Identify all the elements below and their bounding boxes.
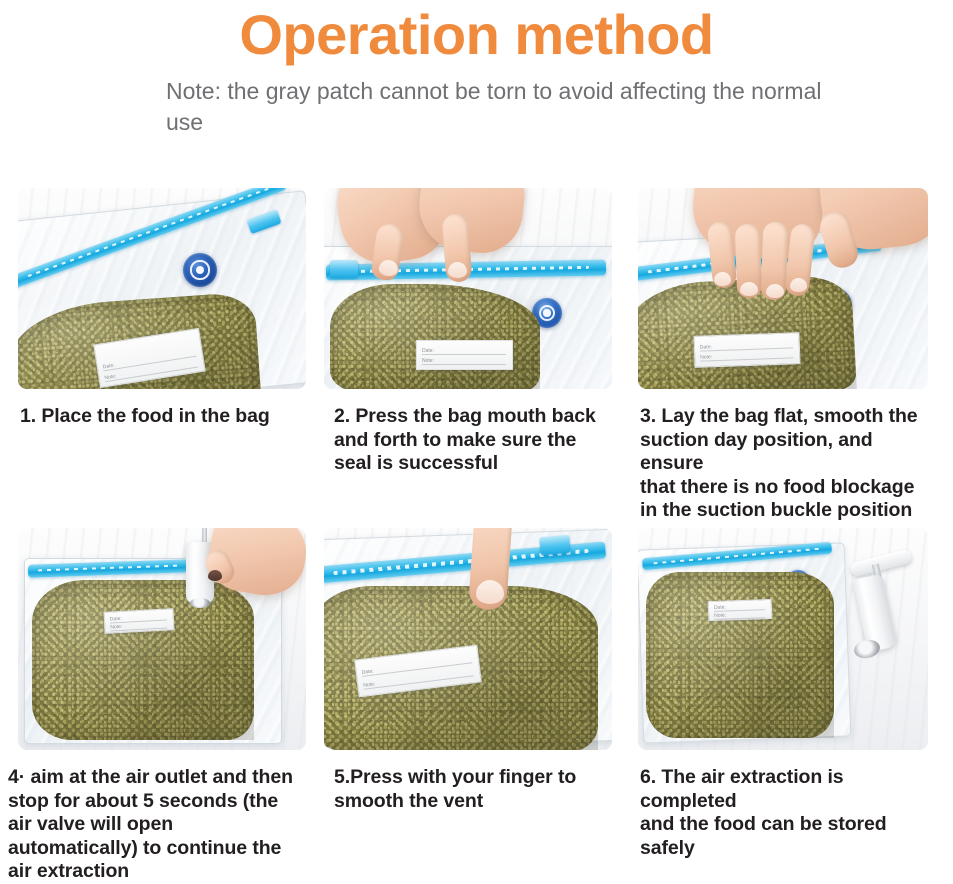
pump-nozzle (190, 598, 210, 608)
finger-nail-4 (790, 278, 807, 292)
step-card-5: Date: Note: (324, 528, 612, 750)
write-on-label: Date: Note: (103, 608, 174, 634)
photo-step-4: Date: Note: (18, 528, 306, 750)
right-hand-nail (448, 262, 467, 278)
zipper-slider (539, 535, 570, 556)
finger-nail-1 (714, 272, 731, 286)
page-note: Note: the gray patch cannot be torn to a… (166, 76, 846, 138)
label-line-note: Note: (110, 622, 167, 632)
valve-center (543, 309, 550, 316)
label-line-date: Date: (700, 341, 793, 351)
label-line-note: Note: (714, 611, 765, 620)
mung-beans (330, 284, 540, 389)
write-on-label: Date: Note: (708, 599, 773, 621)
label-line-note: Note: (422, 358, 506, 365)
air-valve (183, 253, 217, 287)
infographic-page: Operation method Note: the gray patch ca… (0, 0, 953, 867)
pressing-finger-nail (476, 580, 504, 604)
write-on-label: Date: Note: (416, 340, 513, 370)
label-line-note: Note: (700, 351, 793, 361)
page-title: Operation method (0, 2, 953, 68)
photo-step-1: Date: Note: (18, 188, 306, 389)
finger-nail-2 (740, 282, 758, 296)
step-caption-3: 3. Lay the bag flat, smooth the suction … (640, 405, 940, 523)
photo-step-6: Date: Note: (638, 528, 928, 750)
step-card-3: Date: Note: (638, 188, 928, 389)
step-caption-5: 5.Press with your finger to smooth the v… (334, 766, 624, 813)
step-caption-2: 2. Press the bag mouth back and forth to… (334, 405, 624, 476)
photo-step-2: Date: Note: (324, 188, 612, 389)
step-card-6: Date: Note: (638, 528, 928, 750)
step-card-4: Date: Note: (18, 528, 306, 750)
step-caption-4: 4· aim at the air outlet and then stop f… (8, 766, 308, 884)
mung-beans (646, 572, 834, 738)
step-caption-1: 1. Place the food in the bag (20, 405, 310, 429)
step-card-1: Date: Note: (18, 188, 306, 389)
write-on-label: Date: Note: (693, 332, 800, 368)
label-line-date: Date: (422, 348, 506, 355)
step-card-2: Date: Note: (324, 188, 612, 389)
mung-beans (32, 580, 254, 740)
step-caption-6: 6. The air extraction is completed and t… (640, 766, 945, 860)
photo-step-5: Date: Note: (324, 528, 612, 750)
pump-hand-nail (208, 570, 222, 581)
finger-nail-3 (766, 284, 784, 298)
zipper-slider (330, 260, 358, 278)
photo-step-3: Date: Note: (638, 188, 928, 389)
